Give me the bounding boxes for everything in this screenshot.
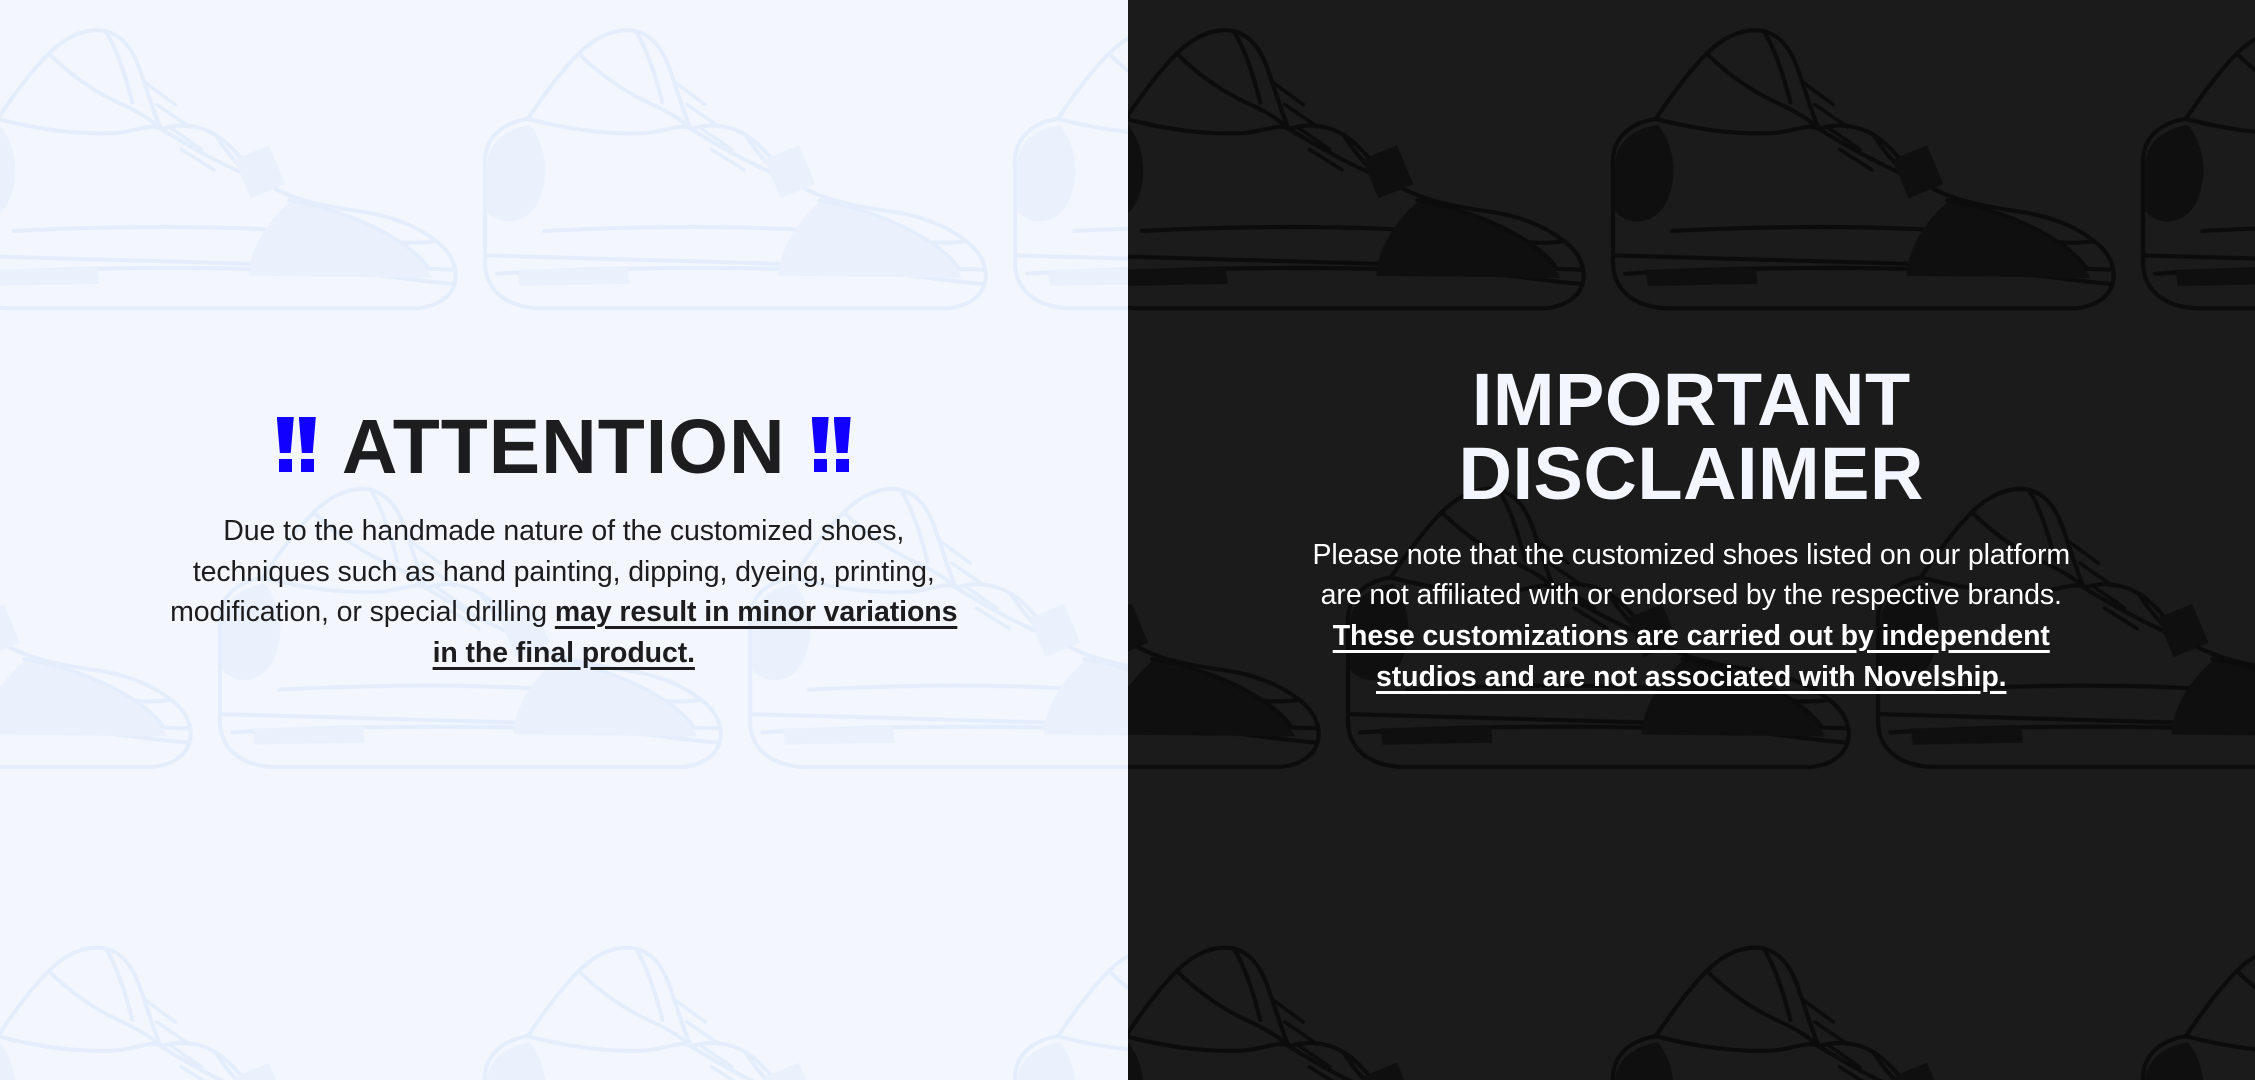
- attention-heading-text: ATTENTION: [342, 410, 786, 485]
- attention-heading: ATTENTION: [60, 410, 1068, 485]
- attention-body: Due to the handmade nature of the custom…: [169, 511, 959, 674]
- double-exclamation-right-icon: [812, 417, 851, 472]
- disclaimer-panel: IMPORTANT DISCLAIMER Please note that th…: [1128, 0, 2255, 1080]
- attention-panel: ATTENTION Due to the handmade nature of …: [0, 0, 1128, 1080]
- disclaimer-content: IMPORTANT DISCLAIMER Please note that th…: [1128, 363, 2255, 698]
- double-exclamation-left-icon: [277, 417, 316, 472]
- disclaimer-heading-line1: IMPORTANT: [1472, 363, 1911, 437]
- disclaimer-heading-line2: DISCLAIMER: [1459, 437, 1924, 511]
- disclaimer-body-emphasis: These customizations are carried out by …: [1333, 620, 2050, 693]
- disclaimer-body-normal: Please note that the customized shoes li…: [1312, 539, 2070, 612]
- disclaimer-banner: ATTENTION Due to the handmade nature of …: [0, 0, 2255, 1080]
- disclaimer-heading: IMPORTANT DISCLAIMER: [1188, 363, 2196, 511]
- attention-content: ATTENTION Due to the handmade nature of …: [0, 410, 1128, 674]
- disclaimer-body: Please note that the customized shoes li…: [1291, 535, 2091, 698]
